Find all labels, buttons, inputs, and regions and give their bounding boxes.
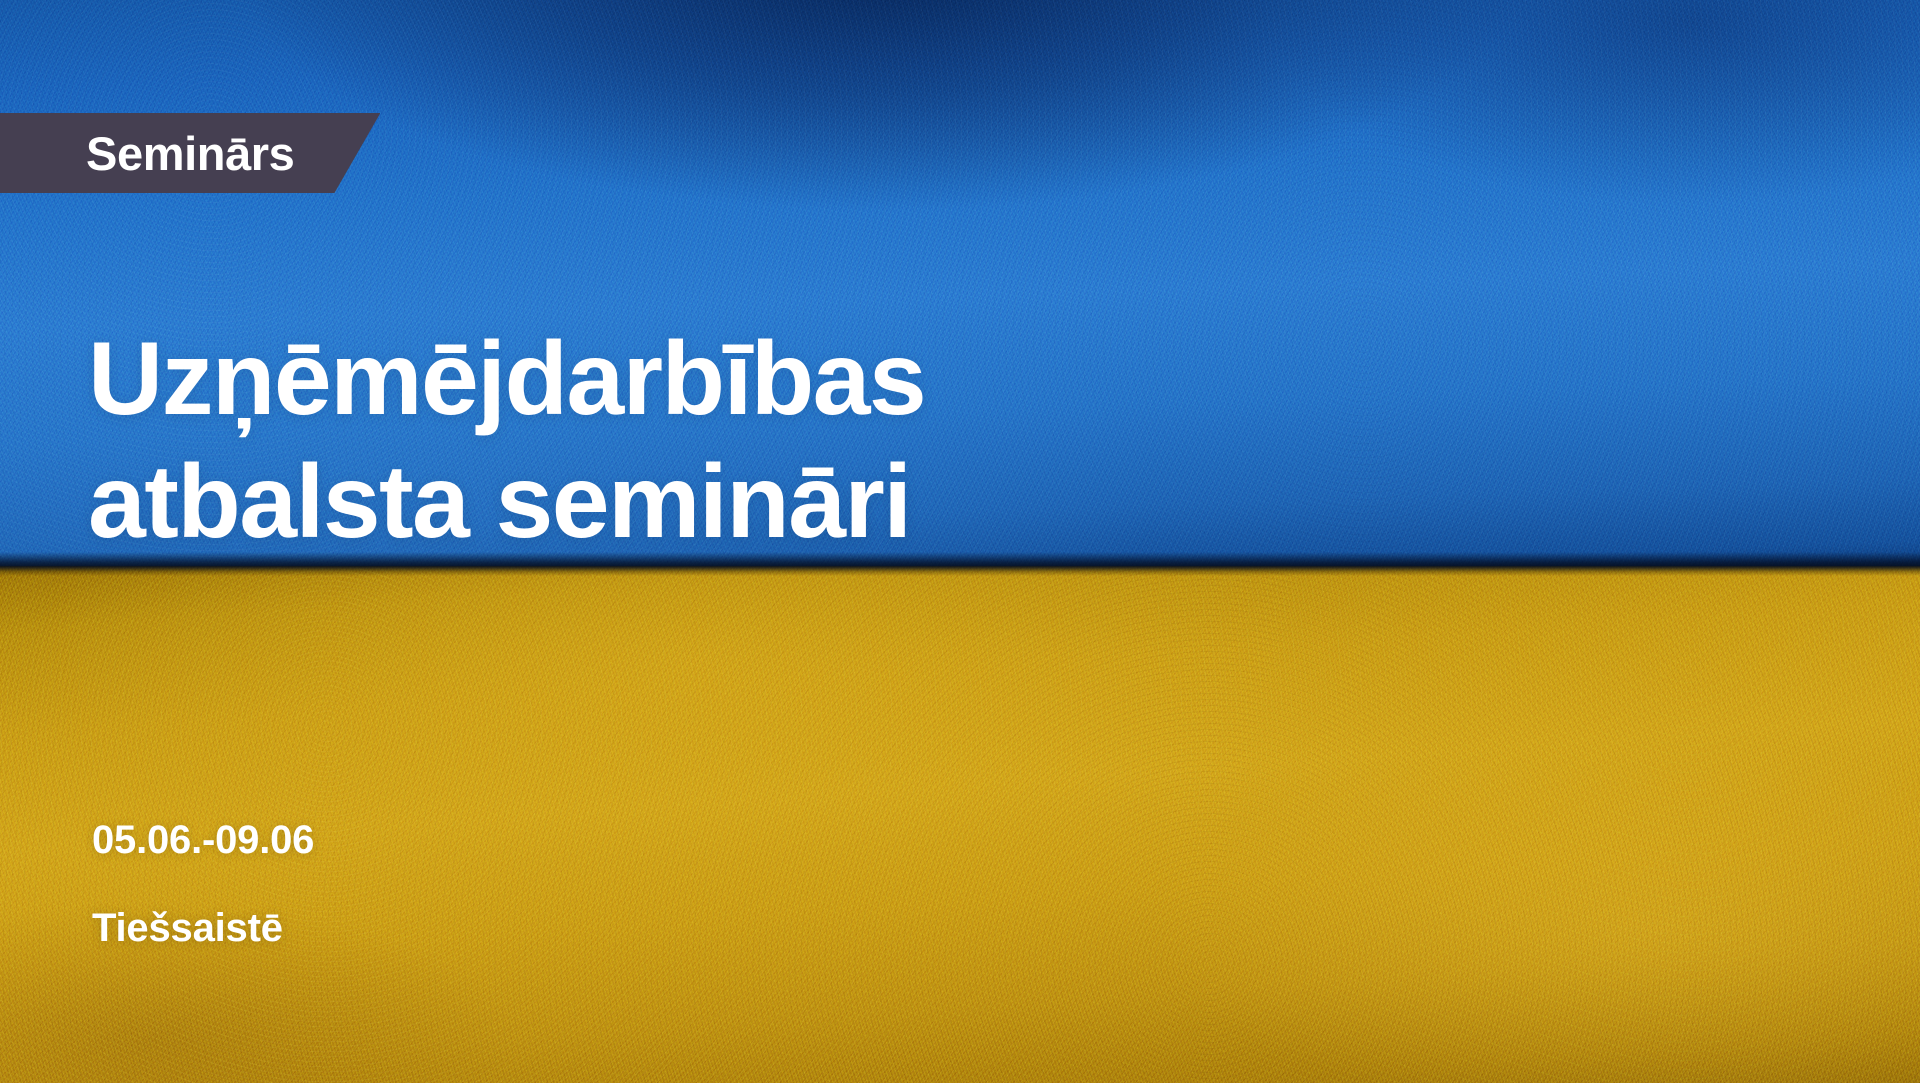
headline-line-2: atbalsta semināri xyxy=(88,441,1268,564)
headline-block: Uzņēmējdarbības atbalsta semināri xyxy=(88,318,1268,563)
category-badge: Seminārs xyxy=(0,113,380,193)
event-meta-block: 05.06.-09.06 Tiešsaistē xyxy=(92,820,314,948)
event-date: 05.06.-09.06 xyxy=(92,820,314,860)
event-location: Tiešsaistē xyxy=(92,908,314,948)
headline-line-1: Uzņēmējdarbības xyxy=(88,318,1268,441)
seminar-promo-banner: Seminārs Uzņēmējdarbības atbalsta seminā… xyxy=(0,0,1920,1083)
category-badge-label: Seminārs xyxy=(86,130,294,177)
